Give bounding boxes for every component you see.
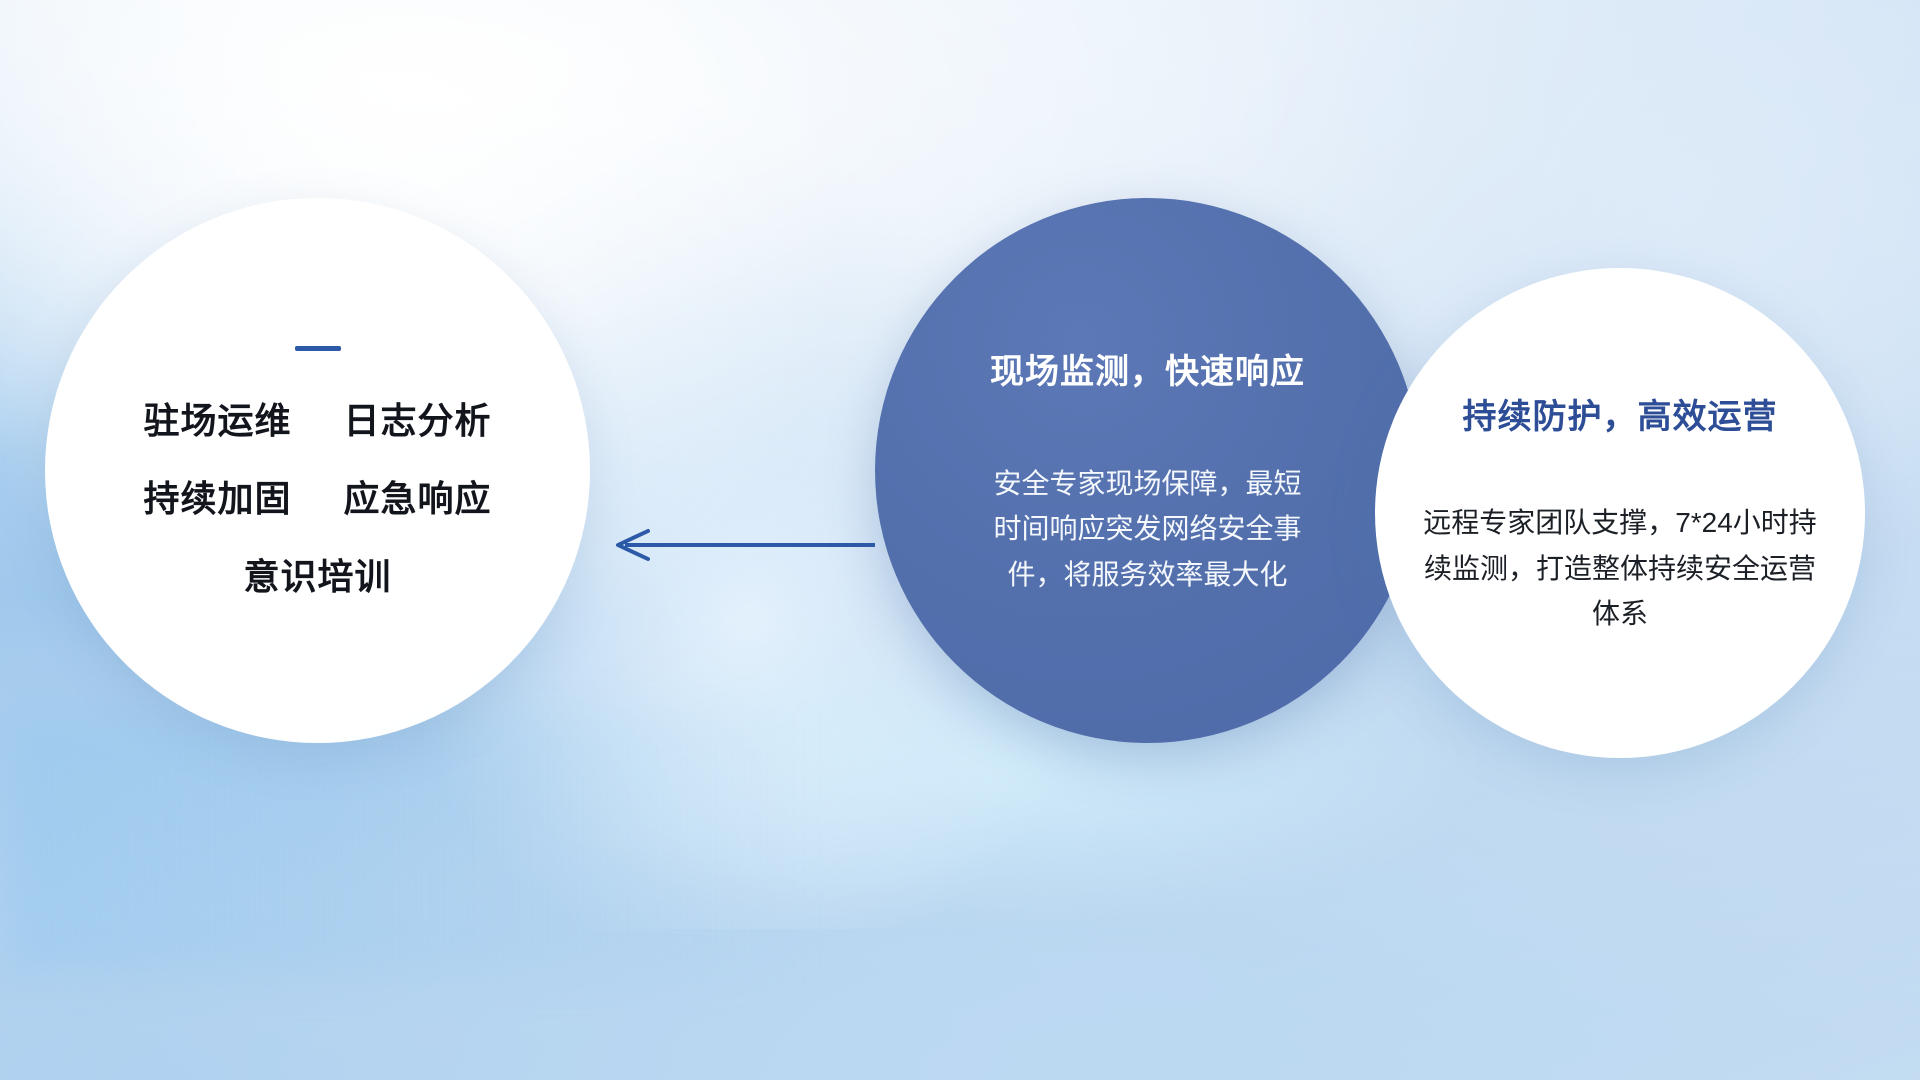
mid-circle-title: 现场监测，快速响应 xyxy=(931,344,1364,393)
continuous-protection-circle[interactable]: 持续防护，高效运营 远程专家团队支撑，7*24小时持续监测，打造整体持续安全运营… xyxy=(1375,268,1865,758)
mid-circle-body: 安全专家现场保障，最短时间响应突发网络安全事件，将服务效率最大化 xyxy=(990,461,1305,597)
mid-circle-content: 现场监测，快速响应 安全专家现场保障，最短时间响应突发网络安全事件，将服务效率最… xyxy=(875,344,1420,597)
right-circle-body: 远程专家团队支撑，7*24小时持续监测，打造整体持续安全运营体系 xyxy=(1420,500,1820,636)
service-row-1: 驻场运维 日志分析 xyxy=(85,403,550,439)
service-label-2b: 应急响应 xyxy=(344,478,492,519)
service-label-1b: 日志分析 xyxy=(344,400,492,441)
onsite-monitoring-circle[interactable]: 现场监测，快速响应 安全专家现场保障，最短时间响应突发网络安全事件，将服务效率最… xyxy=(875,198,1420,743)
service-label-2a: 持续加固 xyxy=(143,478,291,519)
right-circle-content: 持续防护，高效运营 远程专家团队支撑，7*24小时持续监测，打造整体持续安全运营… xyxy=(1375,389,1865,636)
service-label-3a: 意识培训 xyxy=(243,556,391,597)
service-label-1a: 驻场运维 xyxy=(143,400,291,441)
service-row-2: 持续加固 应急响应 xyxy=(85,481,550,517)
left-service-circle[interactable]: 驻场运维 日志分析 持续加固 应急响应 意识培训 xyxy=(45,198,590,743)
left-circle-content: 驻场运维 日志分析 持续加固 应急响应 意识培训 xyxy=(45,346,590,595)
service-row-3: 意识培训 xyxy=(85,559,550,595)
right-circle-title: 持续防护，高效运营 xyxy=(1419,389,1821,438)
divider-rule xyxy=(295,346,341,351)
